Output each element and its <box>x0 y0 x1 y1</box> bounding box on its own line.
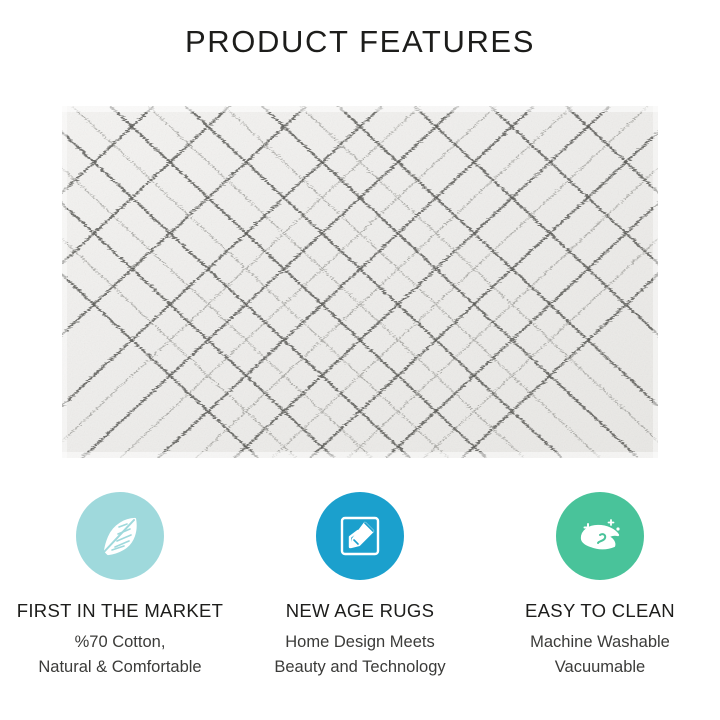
feather-icon <box>94 510 146 562</box>
feature-badge-3 <box>556 492 644 580</box>
feature-desc-3-line-1: Machine Washable <box>530 630 670 655</box>
feature-desc-1: %70 Cotton, Natural & Comfortable <box>38 630 201 680</box>
feature-badge-2 <box>316 492 404 580</box>
feature-desc-2-line-1: Home Design Meets <box>274 630 445 655</box>
product-features-page: PRODUCT FEATURES <box>0 0 720 720</box>
feature-desc-1-line-2: Natural & Comfortable <box>38 655 201 680</box>
feature-item-first-in-the-market: FIRST IN THE MARKET %70 Cotton, Natural … <box>0 492 240 680</box>
feature-desc-3: Machine Washable Vacuumable <box>530 630 670 680</box>
feature-title-3: EASY TO CLEAN <box>525 600 675 622</box>
feature-item-new-age-rugs: NEW AGE RUGS Home Design Meets Beauty an… <box>240 492 480 680</box>
feature-desc-3-line-2: Vacuumable <box>530 655 670 680</box>
washing-sparkle-icon <box>573 509 627 563</box>
feature-title-1: FIRST IN THE MARKET <box>17 600 223 622</box>
features-row: FIRST IN THE MARKET %70 Cotton, Natural … <box>0 492 720 680</box>
feature-item-easy-to-clean: EASY TO CLEAN Machine Washable Vacuumabl… <box>480 492 720 680</box>
feature-desc-1-line-1: %70 Cotton, <box>38 630 201 655</box>
feature-desc-2: Home Design Meets Beauty and Technology <box>274 630 445 680</box>
page-title: PRODUCT FEATURES <box>0 24 720 60</box>
feature-desc-2-line-2: Beauty and Technology <box>274 655 445 680</box>
product-image <box>62 106 658 458</box>
feature-badge-1 <box>76 492 164 580</box>
design-pen-ruler-icon <box>335 511 385 561</box>
rug-pattern-graphic <box>62 106 658 458</box>
feature-title-2: NEW AGE RUGS <box>286 600 435 622</box>
